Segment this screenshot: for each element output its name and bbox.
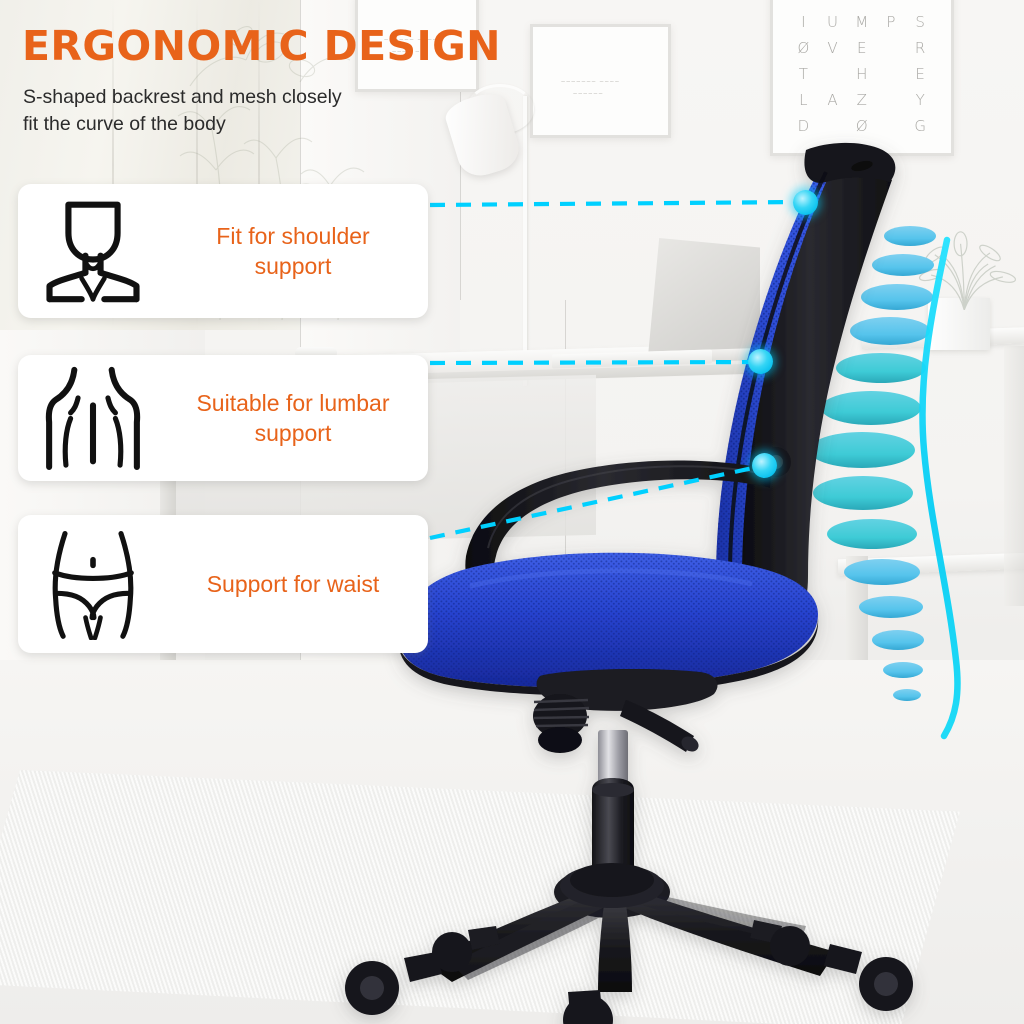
feature-card-shoulder-label: Fit for shoulder support [168,221,428,281]
connector-line-shoulder [430,202,800,205]
connector-line-waist [430,466,762,538]
shoulder-support-icon [18,184,168,318]
feature-label-line1: Fit for shoulder [168,221,418,251]
feature-label-line2: support [168,251,418,281]
feature-card-waist[interactable]: Support for waist [18,515,428,653]
feature-card-lumbar-label: Suitable for lumbar support [168,388,428,448]
infographic-canvas: ~~~~~~ ~~~~ ~~~~ ~~ ~~~~~~~ ~~~~ ~~~~~~ … [0,0,1024,1024]
feature-label-line1: Suitable for lumbar [168,388,418,418]
feature-card-shoulder[interactable]: Fit for shoulder support [18,184,428,318]
page-subtitle-line1: S-shaped backrest and mesh closely [23,84,342,111]
callout-dot-shoulder [793,190,818,215]
feature-label-line1: Support for waist [168,569,418,599]
page-subtitle-line2: fit the curve of the body [23,111,342,138]
waist-support-icon [18,515,168,653]
page-subtitle: S-shaped backrest and mesh closely fit t… [23,84,342,138]
lumbar-support-icon [18,355,168,481]
callout-dot-waist [752,453,777,478]
feature-label-line2: support [168,418,418,448]
feature-card-lumbar[interactable]: Suitable for lumbar support [18,355,428,481]
callout-connectors [0,0,1024,1024]
connector-line-lumbar [430,362,760,363]
page-title: ERGONOMIC DESIGN [22,22,501,70]
feature-card-waist-label: Support for waist [168,569,428,599]
callout-dot-lumbar [748,349,773,374]
